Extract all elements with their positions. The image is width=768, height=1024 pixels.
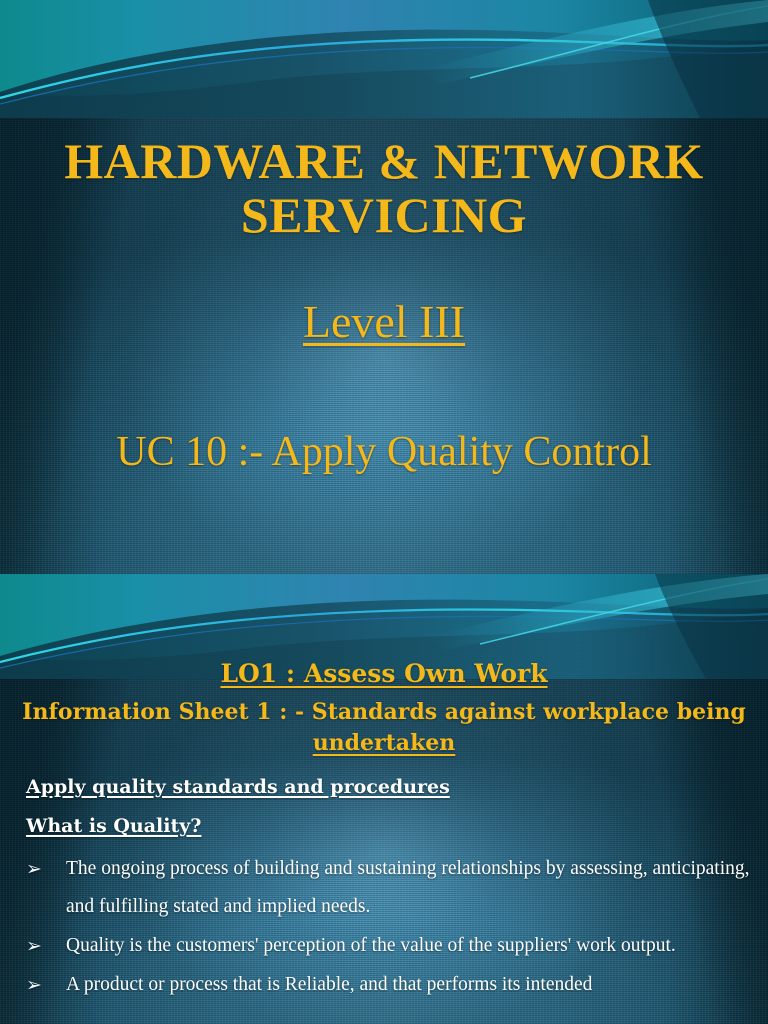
list-item-text: Quality is the customers' perception of … <box>66 927 750 965</box>
arrow-bullet-icon: ➢ <box>26 927 66 965</box>
information-sheet-line-1: Information Sheet 1 : - Standards agains… <box>22 699 746 725</box>
list-item: ➢A product or process that is Reliable, … <box>26 966 750 1004</box>
quality-definition-bullet-list: ➢The ongoing process of building and sus… <box>26 850 750 1005</box>
sub-heading-apply-quality-standards: Apply quality standards and procedures <box>26 776 450 798</box>
information-sheet-heading: Information Sheet 1 : - Standards agains… <box>22 697 746 759</box>
arrow-bullet-icon: ➢ <box>26 966 66 1004</box>
list-item: ➢The ongoing process of building and sus… <box>26 850 750 926</box>
presentation-deck: HARDWARE & NETWORK SERVICING Level III U… <box>0 0 768 1024</box>
list-item-text: The ongoing process of building and sust… <box>66 850 750 926</box>
slide-title-heading: HARDWARE & NETWORK SERVICING <box>0 134 768 242</box>
level-label: Level III <box>0 298 768 346</box>
list-item: ➢Quality is the customers' perception of… <box>26 927 750 965</box>
title-line-1: HARDWARE & NETWORK <box>64 133 704 189</box>
information-sheet-line-2: undertaken <box>313 730 456 756</box>
title-line-2: SERVICING <box>241 187 527 243</box>
slide-title: HARDWARE & NETWORK SERVICING Level III U… <box>0 0 768 574</box>
learning-outcome-heading: LO1 : Assess Own Work <box>0 659 768 688</box>
unit-code-label: UC 10 :- Apply Quality Control <box>0 430 768 474</box>
arrow-bullet-icon: ➢ <box>26 850 66 888</box>
list-item-text: A product or process that is Reliable, a… <box>66 966 750 1004</box>
sub-heading-what-is-quality: What is Quality? <box>26 815 201 837</box>
decorative-wave-graphic <box>0 0 768 118</box>
